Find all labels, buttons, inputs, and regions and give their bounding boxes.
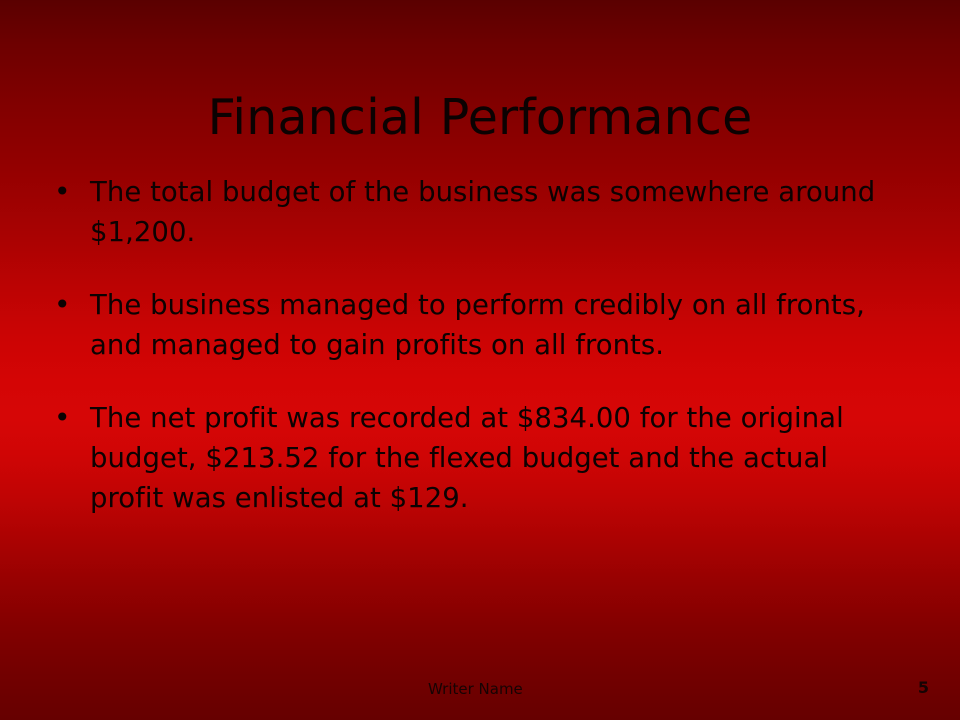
slide-body: • The total budget of the business was s…	[48, 172, 904, 518]
footer-author: Writer Name	[428, 679, 523, 699]
bullet-point-icon: •	[48, 172, 90, 212]
bullet-point-icon: •	[48, 285, 90, 325]
slide-title: Financial Performance	[0, 89, 960, 147]
bullet-item: • The net profit was recorded at $834.00…	[48, 398, 904, 518]
bullet-point-icon: •	[48, 398, 90, 438]
bullet-item-text: The net profit was recorded at $834.00 f…	[90, 398, 904, 518]
slide-footer: Writer Name 5	[0, 674, 960, 720]
bullet-item-text: The total budget of the business was som…	[90, 172, 904, 252]
slide-page-number: 5	[918, 678, 929, 698]
bullet-item-text: The business managed to perform credibly…	[90, 285, 904, 365]
bullet-item: • The total budget of the business was s…	[48, 172, 904, 252]
bullet-item: • The business managed to perform credib…	[48, 285, 904, 365]
presentation-slide: Financial Performance • The total budget…	[0, 0, 960, 720]
